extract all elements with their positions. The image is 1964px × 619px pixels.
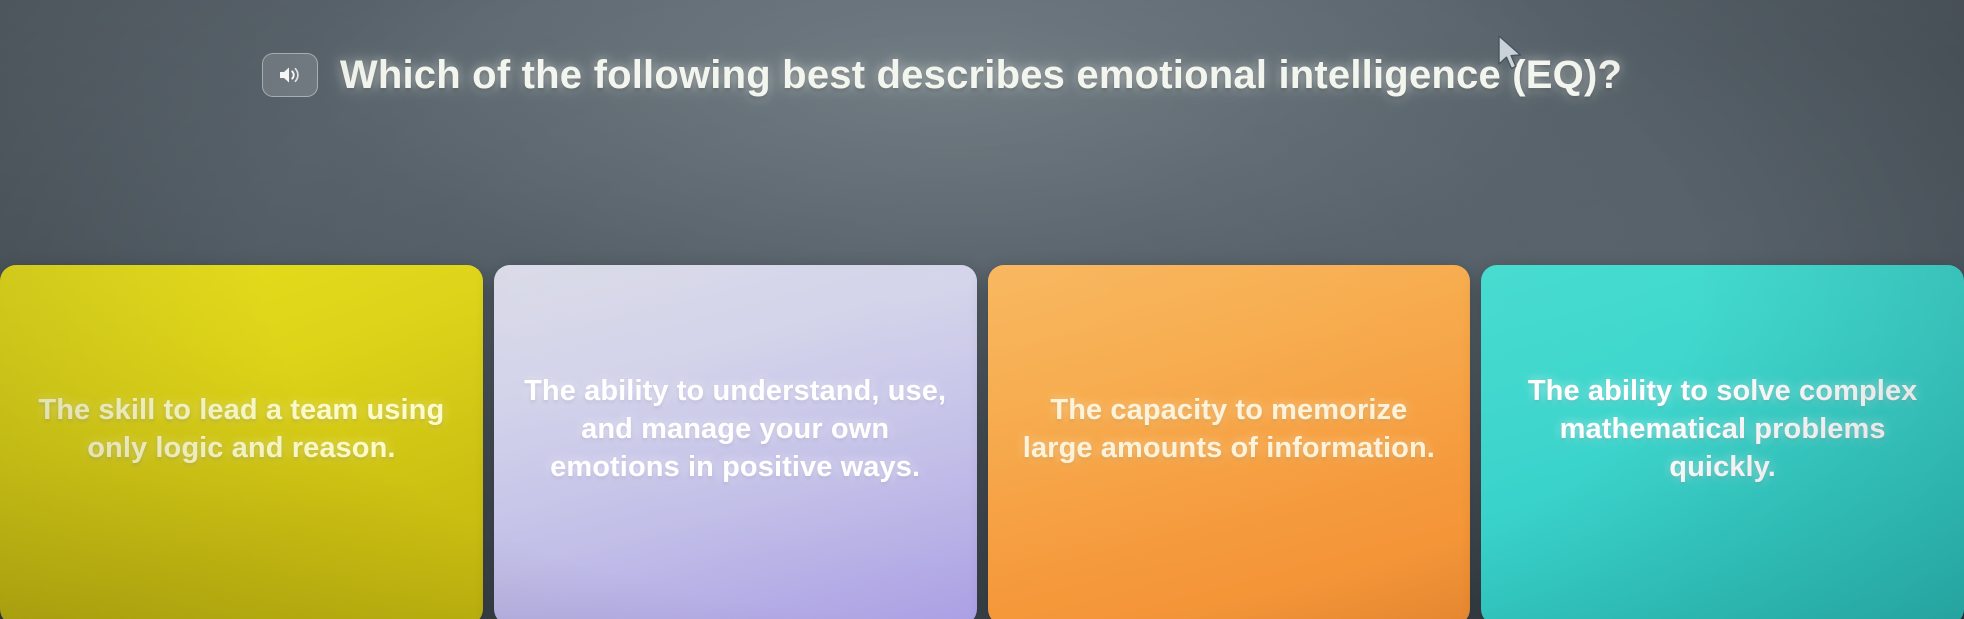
answer-option-c-label: The capacity to memorize large amounts o… bbox=[1012, 391, 1447, 468]
answer-option-a[interactable]: The skill to lead a team using only logi… bbox=[0, 265, 483, 619]
answer-options-row: The skill to lead a team using only logi… bbox=[0, 265, 1964, 619]
question-text: Which of the following best describes em… bbox=[340, 53, 1622, 98]
speaker-icon-button[interactable] bbox=[262, 53, 318, 97]
quiz-screen: Which of the following best describes em… bbox=[0, 0, 1964, 619]
answer-option-d-label: The ability to solve complex mathematica… bbox=[1505, 372, 1940, 487]
answer-option-d[interactable]: The ability to solve complex mathematica… bbox=[1481, 265, 1964, 619]
answer-option-b[interactable]: The ability to understand, use, and mana… bbox=[494, 265, 977, 619]
speaker-icon bbox=[277, 65, 303, 85]
answer-option-b-label: The ability to understand, use, and mana… bbox=[518, 372, 953, 487]
answer-option-a-label: The skill to lead a team using only logi… bbox=[24, 391, 459, 468]
answer-option-c[interactable]: The capacity to memorize large amounts o… bbox=[988, 265, 1471, 619]
question-header: Which of the following best describes em… bbox=[0, 44, 1964, 106]
